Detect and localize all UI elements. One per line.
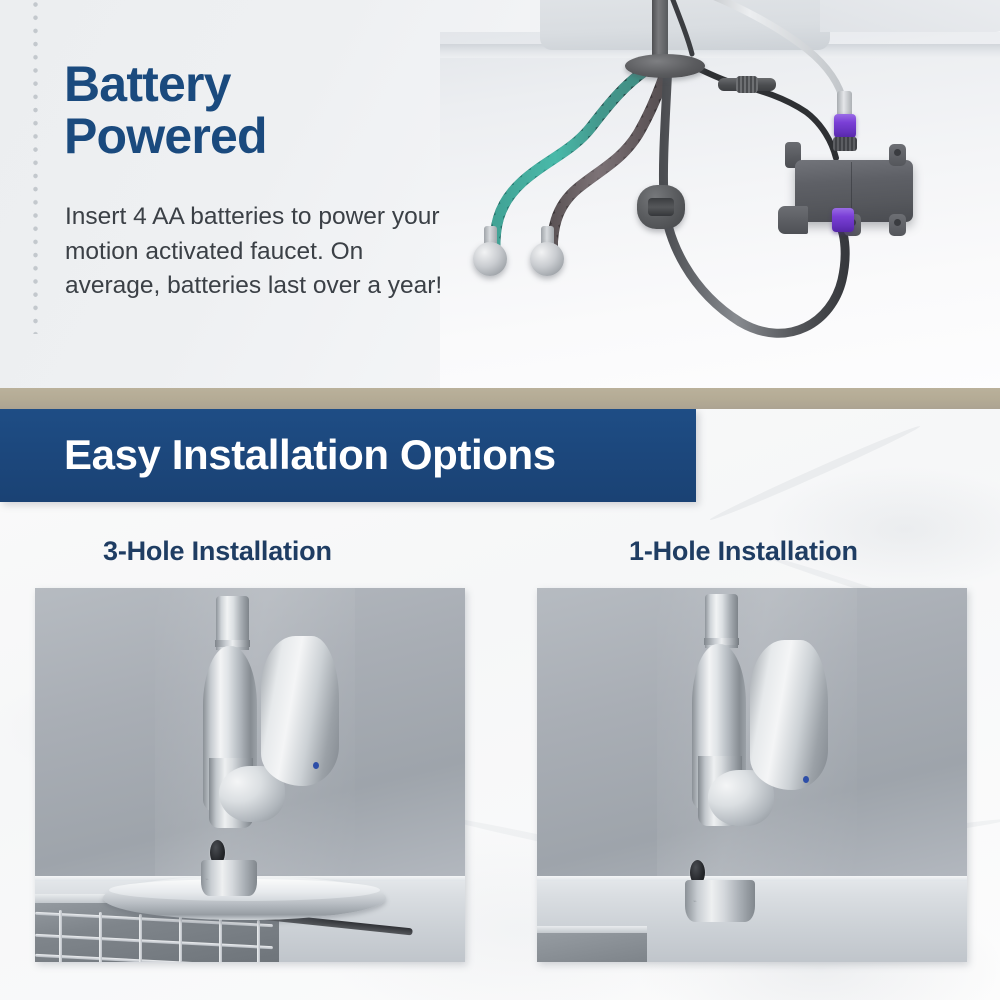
- dotted-divider-line: [33, 2, 38, 334]
- handle-blue-indicator: [803, 776, 809, 783]
- banner-title: Easy Installation Options: [64, 430, 556, 480]
- faucet-lever-handle: [750, 640, 828, 790]
- sensor-control-cable: [676, 58, 836, 158]
- handle-cutout: [756, 670, 798, 774]
- page-body-text: Insert 4 AA batteries to power your moti…: [65, 200, 455, 304]
- faucet-base: [201, 860, 257, 896]
- control-box-clip: [778, 206, 808, 234]
- heading-1-hole-installation: 1-Hole Installation: [629, 536, 858, 567]
- marble-vein: [708, 423, 921, 524]
- chrome-hose-connector-left: [473, 242, 507, 276]
- mounting-tab-top-right: [889, 144, 906, 166]
- page-title: Battery Powered: [64, 58, 267, 162]
- product-infographic-page: Battery Powered Insert 4 AA batteries to…: [0, 0, 1000, 1000]
- connector-collar-top: [833, 137, 857, 151]
- upper-cable: [666, 0, 692, 54]
- sink-grid-rack-bar: [219, 918, 222, 962]
- faucet-brand-mark: ⌁: [205, 876, 209, 883]
- hose-routing-svg: [440, 0, 1000, 388]
- mounting-flange: [625, 54, 705, 78]
- violet-quick-connect-bottom: [832, 208, 854, 232]
- faucet-lever-handle: [261, 636, 339, 786]
- sink-grid-rack-bar: [257, 920, 260, 962]
- faucet-shank: [652, 0, 668, 62]
- easy-installation-banner: Easy Installation Options: [0, 409, 696, 502]
- photo-3-hole-installation: ⌁: [35, 588, 465, 962]
- violet-quick-connect-top: [834, 114, 856, 138]
- installation-options-section: Easy Installation Options 3-Hole Install…: [0, 409, 1000, 1000]
- handle-cutout: [267, 666, 309, 770]
- chrome-hose-connector-right: [530, 242, 564, 276]
- photo-1-hole-installation: ⌁: [537, 588, 967, 962]
- battery-control-box: [795, 160, 913, 222]
- mounting-tab-bottom-right: [889, 214, 906, 236]
- sink-grid-rack-bar: [99, 912, 102, 962]
- wire-connector-ribs: [736, 76, 758, 93]
- grommet-slot: [648, 198, 674, 216]
- battery-powered-section: Battery Powered Insert 4 AA batteries to…: [0, 0, 1000, 388]
- heading-3-hole-installation: 3-Hole Installation: [103, 536, 332, 567]
- sink-grid-rack-bar: [179, 916, 182, 962]
- under-sink-plumbing-illustration: [440, 0, 1000, 388]
- handle-blue-indicator: [313, 762, 319, 769]
- cable-junction-grommet: [637, 185, 685, 229]
- sink-rim: [537, 926, 647, 933]
- faucet-brand-mark: ⌁: [693, 898, 697, 905]
- sink-grid-rack-bar: [139, 914, 142, 962]
- section-divider-stripe: [0, 388, 1000, 409]
- sink-grid-rack-bar: [59, 910, 62, 962]
- tab-screw-hole: [894, 219, 901, 226]
- teal-braided-supply-hose: [495, 70, 646, 266]
- tab-screw-hole: [894, 149, 901, 156]
